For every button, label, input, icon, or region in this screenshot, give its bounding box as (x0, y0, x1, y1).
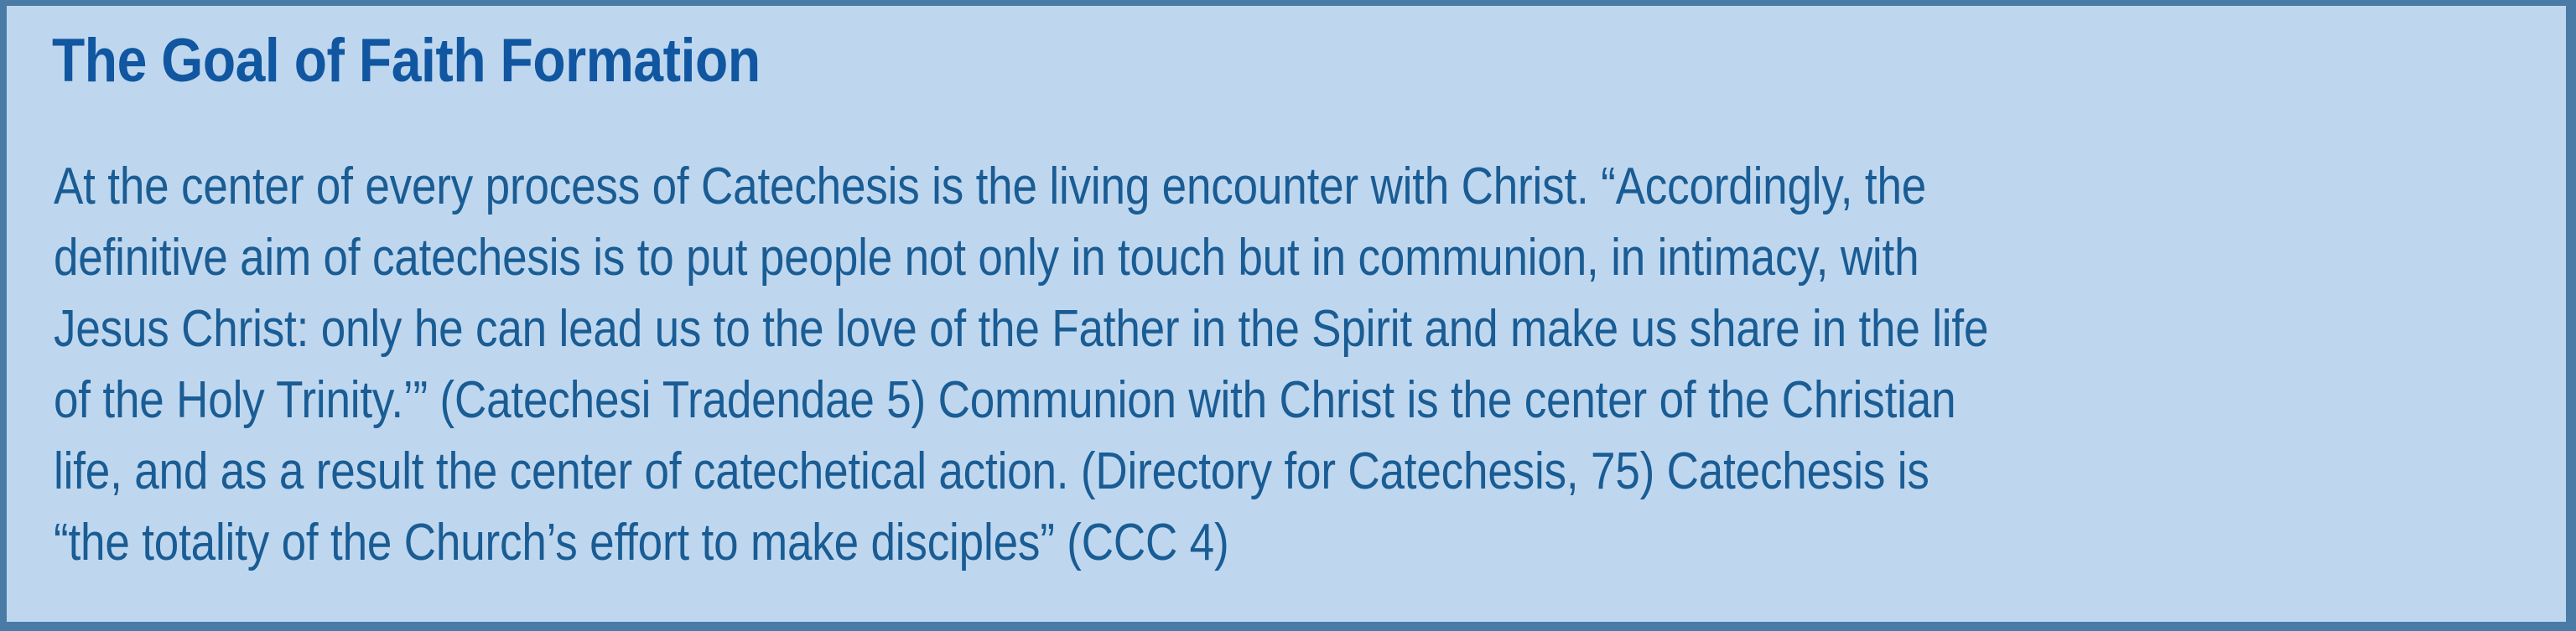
body-line: “the totality of the Church’s effort to … (54, 507, 2212, 578)
body-line: Jesus Christ: only he can lead us to the… (54, 293, 2212, 365)
callout-body-text: At the center of every process of Catech… (54, 151, 2576, 578)
body-line: At the center of every process of Catech… (54, 151, 2212, 222)
body-line: of the Holy Trinity.’” (Catechesi Traden… (54, 365, 2212, 436)
body-line: life, and as a result the center of cate… (54, 436, 2212, 507)
page-title: The Goal of Faith Formation (52, 26, 761, 96)
callout-content: The Goal of Faith Formation At the cente… (7, 6, 2566, 622)
faith-formation-callout-box: The Goal of Faith Formation At the cente… (0, 0, 2576, 631)
body-line: definitive aim of catechesis is to put p… (54, 222, 2212, 293)
